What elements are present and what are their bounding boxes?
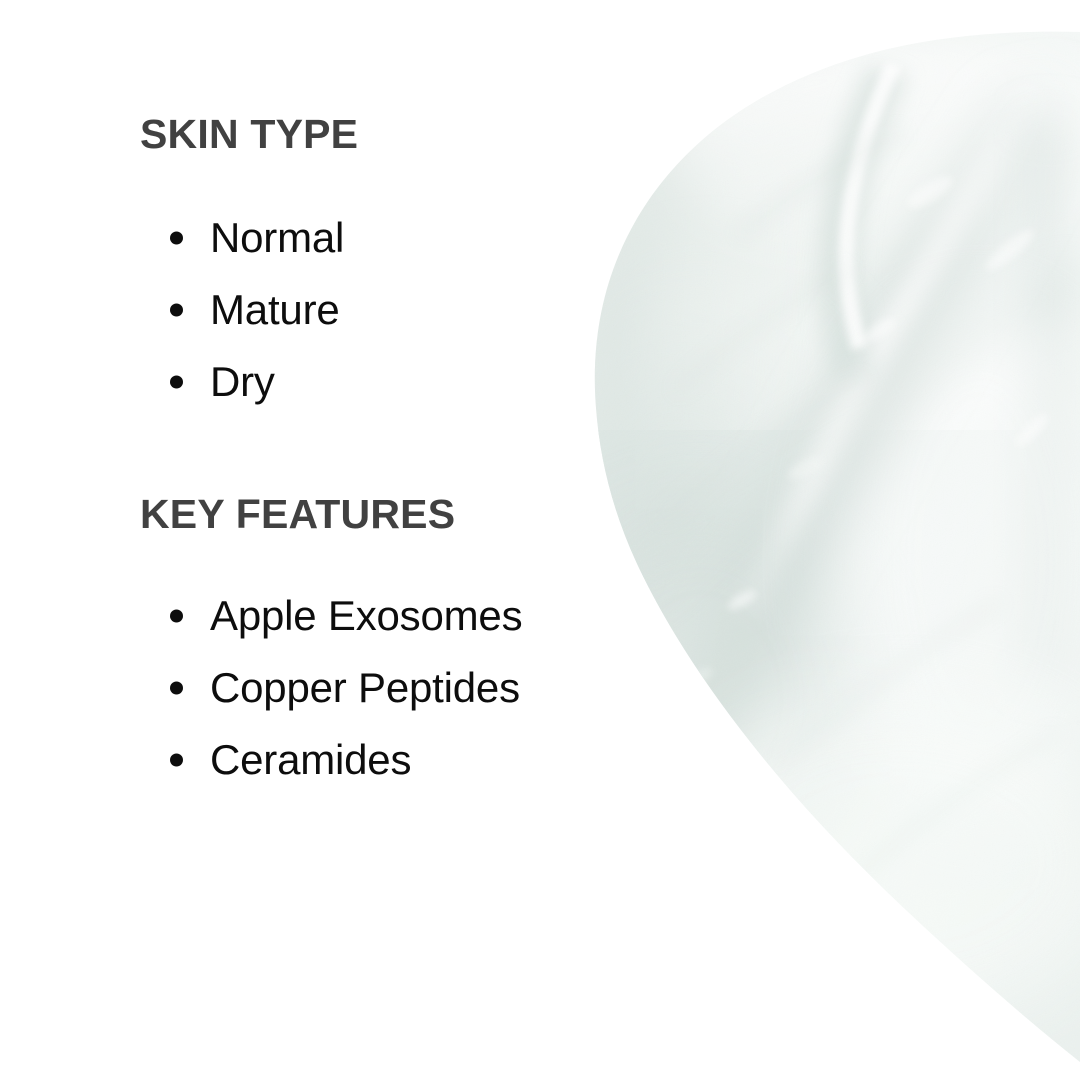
list-item-label: Copper Peptides: [210, 667, 520, 709]
list-item-label: Normal: [210, 217, 344, 259]
list-item: Dry: [140, 346, 358, 418]
bullet-dot-icon: [170, 304, 183, 317]
bullet-dot-icon: [170, 754, 183, 767]
skin-type-list: Normal Mature Dry: [140, 202, 358, 418]
bullet-dot-icon: [170, 610, 183, 623]
bullet-dot-icon: [170, 232, 183, 245]
list-item: Apple Exosomes: [140, 580, 522, 652]
bullet-dot-icon: [170, 682, 183, 695]
list-item: Mature: [140, 274, 358, 346]
skin-type-heading: SKIN TYPE: [140, 110, 358, 158]
product-info-card: SKIN TYPE Normal Mature Dry KEY FEATURES: [0, 0, 1080, 1080]
list-item: Copper Peptides: [140, 652, 522, 724]
list-item-label: Mature: [210, 289, 340, 331]
text-column: SKIN TYPE Normal Mature Dry KEY FEATURES: [0, 0, 620, 1080]
key-features-list: Apple Exosomes Copper Peptides Ceramides: [140, 580, 522, 796]
bullet-dot-icon: [170, 376, 183, 389]
section-key-features: KEY FEATURES Apple Exosomes Copper Pepti…: [140, 490, 522, 796]
section-skin-type: SKIN TYPE Normal Mature Dry: [140, 110, 358, 418]
key-features-heading: KEY FEATURES: [140, 490, 522, 538]
list-item-label: Dry: [210, 361, 275, 403]
list-item-label: Ceramides: [210, 739, 411, 781]
list-item-label: Apple Exosomes: [210, 595, 522, 637]
list-item: Normal: [140, 202, 358, 274]
list-item: Ceramides: [140, 724, 522, 796]
